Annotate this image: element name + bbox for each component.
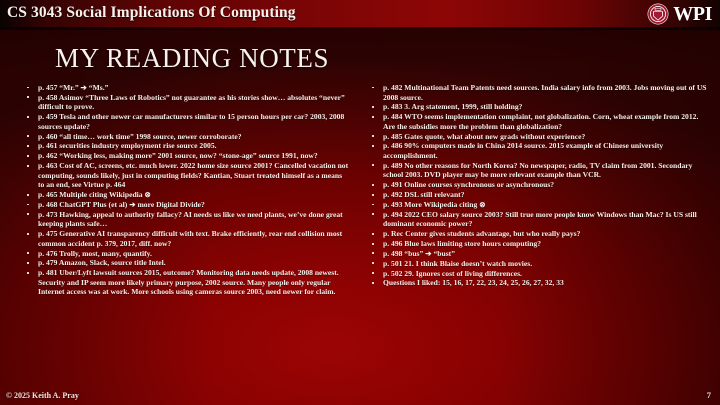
- list-item: p. 489 No other reasons for North Korea?…: [370, 161, 708, 180]
- list-item: p. 482 Multinational Team Patents need s…: [370, 83, 708, 102]
- list-item: p. 473 Hawking, appeal to authority fall…: [24, 210, 350, 229]
- list-item: p. 485 Gates quote, what about new grads…: [370, 132, 708, 142]
- header-divider: [0, 27, 720, 30]
- list-item: p. 459 Tesla and other newer car manufac…: [24, 112, 350, 131]
- list-item: p. 492 DSL still relevant?: [370, 190, 708, 200]
- notes-column-left: p. 457 “Mr.” ➔ “Ms.” p. 458 Asimov “Thre…: [0, 83, 360, 373]
- list-item: p. 462 “Working less, making more” 2001 …: [24, 151, 350, 161]
- slide-body: p. 457 “Mr.” ➔ “Ms.” p. 458 Asimov “Thre…: [0, 83, 720, 373]
- wpi-seal-icon: [647, 3, 669, 25]
- list-item: p. 468 ChatGPT Plus (et al) ➔ more Digit…: [24, 200, 350, 210]
- list-item: p. 502 29. Ignores cost of living differ…: [370, 269, 708, 279]
- course-title: CS 3043 Social Implications Of Computing: [7, 4, 296, 22]
- list-item: p. Rec Center gives students advantage, …: [370, 229, 708, 239]
- list-item: p. 475 Generative AI transparency diffic…: [24, 229, 350, 248]
- list-item: p. 458 Asimov “Three Laws of Robotics” n…: [24, 93, 350, 112]
- list-item: p. 476 Trolly, most, many, quantify.: [24, 249, 350, 259]
- list-item: p. 493 More Wikipedia citing ⊗: [370, 200, 708, 210]
- list-item: p. 479 Amazon, Slack, source title Intel…: [24, 258, 350, 268]
- list-item: p. 481 Uber/Lyft lawsuit sources 2015, o…: [24, 268, 350, 297]
- list-item: p. 491 Online courses synchronous or asy…: [370, 180, 708, 190]
- list-item: Questions I liked: 15, 16, 17, 22, 23, 2…: [370, 278, 708, 288]
- presentation-slide: CS 3043 Social Implications Of Computing…: [0, 0, 720, 405]
- list-item: p. 461 securities industry employment ri…: [24, 141, 350, 151]
- wpi-wordmark: WPI: [673, 4, 712, 24]
- footer-copyright: © 2025 Keith A. Pray: [6, 391, 79, 400]
- notes-list-right: p. 482 Multinational Team Patents need s…: [370, 83, 708, 288]
- wpi-logo: WPI: [647, 1, 712, 26]
- list-item: p. 484 WTO seems implementation complain…: [370, 112, 708, 131]
- list-item: p. 460 “all time… work time” 1998 source…: [24, 132, 350, 142]
- notes-column-right: p. 482 Multinational Team Patents need s…: [360, 83, 720, 373]
- list-item: p. 494 2022 CEO salary source 2003? Stil…: [370, 210, 708, 229]
- list-item: p. 463 Cost of AC, screens, etc. much lo…: [24, 161, 350, 190]
- list-item: p. 501 21. I think Blaise doesn’t watch …: [370, 259, 708, 269]
- footer-page-number: 7: [707, 390, 711, 400]
- list-item: p. 457 “Mr.” ➔ “Ms.”: [24, 83, 350, 93]
- notes-list-left: p. 457 “Mr.” ➔ “Ms.” p. 458 Asimov “Thre…: [24, 83, 350, 297]
- page-title: MY READING NOTES: [55, 43, 329, 74]
- list-item: p. 496 Blue laws limiting store hours co…: [370, 239, 708, 249]
- list-item: p. 498 “bus” ➔ “bust”: [370, 249, 708, 259]
- list-item: p. 483 3. Arg statement, 1999, still hol…: [370, 102, 708, 112]
- list-item: p. 486 90% computers made in China 2014 …: [370, 141, 708, 160]
- list-item: p. 465 Multiple citing Wikipedia ⊗: [24, 190, 350, 200]
